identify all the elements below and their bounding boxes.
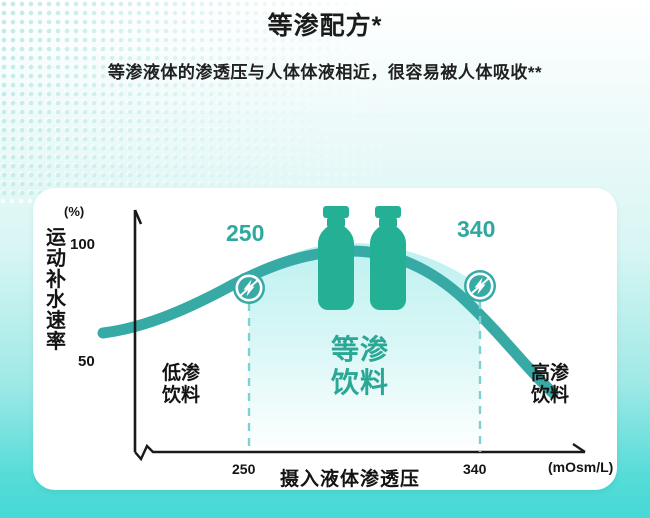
category-label-hypotonic-line1: 低渗 xyxy=(146,363,216,385)
y-tick-100: 100 xyxy=(70,236,95,253)
lightning-badge-icon-250[interactable] xyxy=(231,270,267,306)
y-tick-50: 50 xyxy=(78,353,95,370)
category-label-isotonic-line2: 饮料 xyxy=(305,366,415,399)
value-label-340: 340 xyxy=(457,216,495,243)
y-axis-label: 运动补水速率 xyxy=(39,228,73,353)
bottle-pair-icon xyxy=(314,204,410,316)
category-label-hypotonic-line2: 饮料 xyxy=(146,385,216,407)
category-label-hypertonic: 高渗 饮料 xyxy=(515,363,585,407)
infographic-stage: 等渗配方* 等渗液体的渗透压与人体体液相近，很容易被人体吸收** xyxy=(0,0,650,518)
category-label-hypertonic-line1: 高渗 xyxy=(515,363,585,385)
value-label-250: 250 xyxy=(226,220,264,247)
x-tick-340: 340 xyxy=(463,461,486,477)
category-label-hypotonic: 低渗 饮料 xyxy=(146,363,216,407)
x-axis-unit: (mOsm/L) xyxy=(548,459,613,475)
lightning-badge-icon-340[interactable] xyxy=(462,268,498,304)
y-axis-unit: (%) xyxy=(64,204,84,219)
page-subtitle: 等渗液体的渗透压与人体体液相近，很容易被人体吸收** xyxy=(0,58,650,83)
category-label-isotonic: 等渗 饮料 xyxy=(305,333,415,399)
chart-card: (%) 100 50 运动补水速率 250 340 摄入液体渗透压 (mOsm/… xyxy=(33,188,617,490)
chart-plot-area: (%) 100 50 运动补水速率 250 340 摄入液体渗透压 (mOsm/… xyxy=(33,188,617,490)
x-tick-250: 250 xyxy=(232,461,255,477)
x-axis-label: 摄入液体渗透压 xyxy=(280,464,420,490)
category-label-isotonic-line1: 等渗 xyxy=(305,333,415,366)
page-title: 等渗配方* xyxy=(0,6,650,42)
category-label-hypertonic-line2: 饮料 xyxy=(515,385,585,407)
